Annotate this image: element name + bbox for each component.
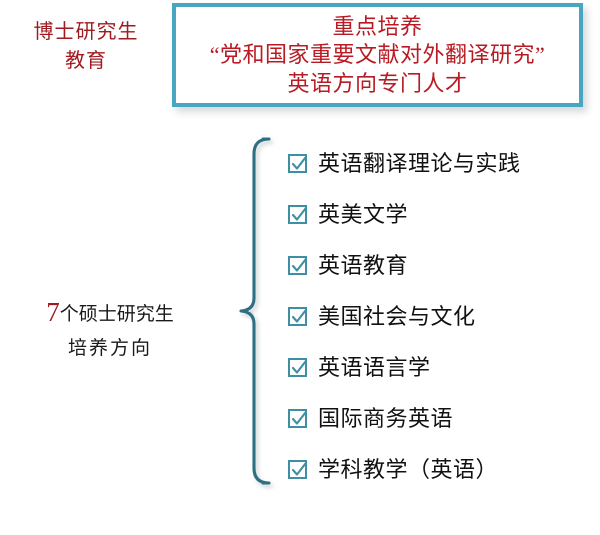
focus-training-box: 重点培养 “党和国家重要文献对外翻译研究” 英语方向专门人才 [172, 3, 583, 107]
checked-checkbox-icon[interactable] [288, 307, 307, 326]
list-item[interactable]: 英语教育 [288, 240, 588, 291]
masters-directions-list: 英语翻译理论与实践 英美文学 英语教育 美国社会与文化 [288, 138, 588, 495]
list-item-label: 英语语言学 [318, 357, 431, 379]
list-item-label: 英美文学 [318, 204, 408, 226]
focus-training-line-1: 重点培养 [332, 13, 422, 42]
doctoral-education-label: 博士研究生 教育 [6, 18, 166, 76]
list-item-label: 英语翻译理论与实践 [318, 153, 521, 175]
list-item[interactable]: 英语语言学 [288, 342, 588, 393]
doctoral-education-label-line-1: 博士研究生 [6, 18, 166, 47]
checked-checkbox-icon[interactable] [288, 358, 307, 377]
list-item-label: 美国社会与文化 [318, 306, 476, 328]
list-item[interactable]: 英语翻译理论与实践 [288, 138, 588, 189]
masters-directions-label: 7个硕士研究生 培养方向 [12, 292, 208, 363]
checked-checkbox-icon[interactable] [288, 256, 307, 275]
masters-count-number: 7 [46, 297, 60, 327]
list-item[interactable]: 国际商务英语 [288, 393, 588, 444]
focus-training-line-3: 英语方向专门人才 [287, 70, 467, 99]
list-item[interactable]: 美国社会与文化 [288, 291, 588, 342]
list-item-label: 英语教育 [318, 255, 408, 277]
doctoral-education-label-line-2: 教育 [6, 47, 166, 76]
list-item[interactable]: 英美文学 [288, 189, 588, 240]
focus-training-box-content: 重点培养 “党和国家重要文献对外翻译研究” 英语方向专门人才 [176, 7, 579, 103]
list-item[interactable]: 学科教学（英语） [288, 444, 588, 495]
list-item-label: 学科教学（英语） [318, 459, 498, 481]
focus-training-line-2: “党和国家重要文献对外翻译研究” [210, 41, 546, 70]
checked-checkbox-icon[interactable] [288, 460, 307, 479]
curly-brace-icon [205, 130, 267, 492]
list-item-label: 国际商务英语 [318, 408, 453, 430]
masters-count-suffix: 个硕士研究生 [60, 304, 174, 325]
checked-checkbox-icon[interactable] [288, 154, 307, 173]
checked-checkbox-icon[interactable] [288, 205, 307, 224]
masters-directions-count: 7个硕士研究生 [46, 304, 174, 325]
checked-checkbox-icon[interactable] [288, 409, 307, 428]
masters-directions-label-line-2: 培养方向 [12, 334, 208, 363]
